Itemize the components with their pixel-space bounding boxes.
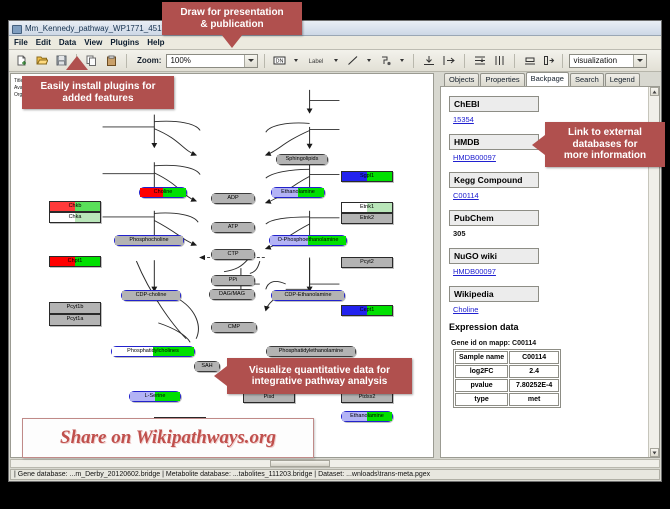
node-fill-segment [342, 172, 367, 181]
table-row: Sample nameC00114 [455, 351, 559, 364]
share-banner: Share on Wikipathways.org [22, 418, 314, 458]
db-external-link[interactable]: C00114 [453, 191, 640, 200]
callout-line: Draw for presentation [180, 7, 283, 19]
node-fill-segment [50, 315, 100, 325]
node-fill-segment [342, 393, 392, 402]
align-left-icon[interactable] [440, 52, 458, 69]
node-fill-segment [244, 393, 294, 402]
datanode-dropdown-icon[interactable] [291, 52, 301, 69]
canvas-horizontal-scrollbar[interactable] [10, 459, 660, 468]
scrollbar-thumb[interactable] [270, 460, 330, 467]
metabolite-node-ptd-ethanolam[interactable]: Phosphatidylethanolamine [266, 346, 356, 357]
callout-draw: Draw for presentation& publication [162, 2, 302, 35]
zoom-value: 100% [170, 56, 190, 65]
node-fill-segment [212, 323, 256, 332]
node-fill-segment [115, 236, 183, 245]
metabolite-node-ethanolamine-2[interactable]: Ethanolamine [341, 411, 393, 422]
toolbar-separator [264, 54, 265, 68]
callout-arrow-databases [532, 135, 545, 155]
gene-node-pcyt2[interactable]: Pcyt2 [341, 257, 393, 268]
tab-backpage[interactable]: Backpage [526, 72, 569, 86]
scroll-up-icon[interactable] [650, 87, 659, 96]
menu-item-edit[interactable]: Edit [36, 38, 51, 47]
zoom-label: Zoom: [137, 56, 161, 65]
gene-node-etnk1[interactable]: Etnk1 [341, 202, 393, 213]
callout-line: Link to external [568, 127, 642, 139]
callout-line: databases for [572, 139, 637, 151]
gene-node-pcyt1b[interactable]: Pcyt1b [49, 302, 101, 314]
node-fill-segment [153, 347, 194, 356]
node-fill-segment [50, 213, 75, 222]
callout-line: Visualize quantitative data for [249, 365, 390, 377]
zoom-combo[interactable]: 100% [166, 54, 258, 68]
gene-node-chka[interactable]: Chka [49, 212, 101, 223]
size-equal-icon[interactable] [521, 52, 538, 69]
node-fill-segment [342, 258, 392, 267]
metabolite-node-choline-top[interactable]: Choline [139, 187, 187, 198]
status-bar: | Gene database: ...m_Derby_20120602.bri… [10, 469, 660, 480]
table-cell: pvalue [455, 379, 508, 392]
align-top-icon[interactable] [420, 52, 437, 69]
node-fill-segment [270, 236, 308, 245]
node-fill-segment [75, 202, 100, 211]
metabolite-node-ppi[interactable]: PPi [211, 275, 255, 286]
callout-line: more information [564, 150, 646, 162]
new-icon[interactable] [13, 52, 30, 69]
node-fill-segment [342, 214, 392, 223]
main-toolbar: Zoom: 100% DN Label [9, 50, 661, 72]
tab-properties[interactable]: Properties [480, 73, 524, 86]
metabolite-node-phosphocholine[interactable]: Phosphocholine [114, 235, 184, 246]
gene-id-line: Gene id on mapp: C00114 [451, 340, 640, 347]
table-cell: type [455, 393, 508, 406]
table-cell: Sample name [455, 351, 508, 364]
node-fill-segment [298, 188, 324, 197]
menu-item-plugins[interactable]: Plugins [110, 38, 139, 47]
callout-line: & publication [200, 19, 263, 31]
db-section-header: PubChem [449, 210, 539, 226]
callout-line: integrative pathway analysis [252, 376, 388, 388]
metabolite-node-ethanolamine-1[interactable]: Ethanolamine [271, 187, 325, 198]
toolbar-separator [413, 54, 414, 68]
metabolite-node-cdp-choline[interactable]: CDP-choline [121, 290, 181, 301]
node-fill-segment [367, 203, 392, 212]
expression-table: Sample nameC00114log2FC2.4pvalue7.80252E… [453, 349, 561, 408]
pathway-canvas[interactable]: Title: Availa Organi [10, 73, 434, 458]
node-fill-segment [342, 306, 367, 315]
node-fill-segment [367, 412, 392, 421]
node-fill-segment [163, 188, 186, 197]
db-external-link[interactable]: Choline [453, 305, 640, 314]
gene-node-pcyt1a[interactable]: Pcyt1a [49, 314, 101, 326]
node-fill-segment [112, 347, 153, 356]
node-fill-segment [75, 213, 100, 222]
share-banner-text: Share on Wikipathways.org [60, 427, 276, 449]
gene-node-chkb[interactable]: Chkb [49, 201, 101, 212]
side-panel-tabs: ObjectsPropertiesBackpageSearchLegend [435, 73, 660, 86]
distribute-vertical-icon[interactable] [471, 52, 488, 69]
interaction-icon[interactable] [377, 52, 394, 69]
app-icon [12, 24, 21, 33]
gene-node-chpt1[interactable]: Chpt1 [49, 256, 101, 267]
label-icon[interactable]: Label [304, 52, 328, 69]
node-fill-segment [367, 306, 392, 315]
table-cell: C00114 [509, 351, 559, 364]
menu-item-view[interactable]: View [84, 38, 102, 47]
callout-arrow-draw [221, 34, 243, 48]
metabolite-node-atp[interactable]: ATP [211, 222, 255, 233]
metabolite-node-cdp-ethanolam[interactable]: CDP-Ethanolamine [271, 290, 345, 301]
node-fill-segment [267, 347, 355, 356]
metabolite-node-adp[interactable]: ADP [211, 193, 255, 204]
node-fill-segment [122, 291, 180, 300]
db-value: 305 [453, 229, 640, 238]
datanode-icon[interactable]: DN [271, 52, 288, 69]
node-fill-segment [308, 236, 346, 245]
callout-databases: Link to externaldatabases formore inform… [545, 122, 665, 167]
metabolite-node-o-phosphoetha[interactable]: O-Phosphoethanolamine [269, 235, 347, 246]
menu-item-file[interactable]: File [14, 38, 28, 47]
distribute-horizontal-icon[interactable] [491, 52, 508, 69]
toolbar-separator [562, 54, 563, 68]
node-fill-segment [272, 188, 298, 197]
chevron-down-icon[interactable] [633, 55, 646, 67]
metabolite-node-sphingolipids[interactable]: Sphingolipids [276, 154, 328, 165]
db-section-header: Kegg Compound [449, 172, 539, 188]
tab-objects[interactable]: Objects [444, 73, 479, 86]
node-fill-segment [140, 188, 163, 197]
node-fill-segment [50, 202, 75, 211]
metabolite-node-cmp[interactable]: CMP [211, 322, 257, 333]
screenshot-root: Mm_Kennedy_pathway_WP1771_45176.gpml Fil… [0, 0, 670, 509]
visualization-combo[interactable]: visualization [569, 54, 647, 68]
line-dropdown-icon[interactable] [364, 52, 374, 69]
node-fill-segment [212, 223, 254, 232]
table-row: log2FC2.4 [455, 365, 559, 378]
metabolite-node-dag-mag[interactable]: DAG/MAG [209, 289, 255, 300]
node-fill-segment [342, 412, 367, 421]
callout-line: Easily install plugins for [40, 81, 155, 93]
metabolite-node-l-serine-1[interactable]: L-Serine [129, 391, 181, 402]
node-fill-segment [210, 290, 254, 299]
db-section-header: Wikipedia [449, 286, 539, 302]
db-section-header: HMDB [449, 134, 539, 150]
visualization-value: visualization [573, 56, 617, 65]
table-row: pvalue7.80252E-4 [455, 379, 559, 392]
table-row: typemet [455, 393, 559, 406]
status-area: | Gene database: ...m_Derby_20120602.bri… [9, 459, 661, 481]
menu-bar: File Edit Data View Plugins Help [9, 36, 661, 50]
gene-node-selenoi[interactable]: Sgpl1 [341, 171, 393, 182]
table-cell: 2.4 [509, 365, 559, 378]
callout-arrow-visualize [214, 366, 227, 386]
stack-icon[interactable] [541, 52, 556, 69]
label-dropdown-icon[interactable] [331, 52, 341, 69]
metabolite-node-ctp[interactable]: CTP [211, 249, 255, 260]
table-cell: met [509, 393, 559, 406]
callout-arrow-plugins [66, 56, 88, 70]
open-icon[interactable] [33, 52, 50, 69]
db-section-header: ChEBI [449, 96, 539, 112]
toolbar-separator [514, 54, 515, 68]
svg-text:DN: DN [276, 59, 284, 65]
tab-legend[interactable]: Legend [605, 73, 640, 86]
callout-line: added features [62, 93, 133, 105]
table-cell: 7.80252E-4 [509, 379, 559, 392]
toolbar-separator [464, 54, 465, 68]
chevron-down-icon[interactable] [244, 55, 257, 67]
node-fill-segment [50, 257, 75, 266]
window-title-bar: Mm_Kennedy_pathway_WP1771_45176.gpml [9, 21, 661, 36]
node-fill-segment [130, 392, 155, 401]
scroll-down-icon[interactable] [650, 448, 659, 457]
node-fill-segment [342, 203, 367, 212]
node-fill-segment [367, 172, 392, 181]
node-fill-segment [212, 194, 254, 203]
node-fill-segment [75, 257, 100, 266]
paste-icon[interactable] [103, 52, 120, 69]
interaction-dropdown-icon[interactable] [397, 52, 407, 69]
expression-data-title: Expression data [449, 322, 640, 332]
node-fill-segment [212, 250, 254, 259]
line-icon[interactable] [344, 52, 361, 69]
node-fill-segment [277, 155, 327, 164]
node-fill-segment [212, 276, 254, 285]
svg-text:Label: Label [309, 59, 324, 65]
menu-item-data[interactable]: Data [59, 38, 76, 47]
table-cell: log2FC [455, 365, 508, 378]
tab-search[interactable]: Search [570, 73, 604, 86]
node-fill-segment [155, 392, 180, 401]
metabolite-node-ptd-cholines[interactable]: Phosphatidylcholines [111, 346, 195, 357]
node-fill-segment [50, 303, 100, 313]
db-external-link[interactable]: HMDB00097 [453, 267, 640, 276]
menu-item-help[interactable]: Help [147, 38, 164, 47]
gene-node-cept1[interactable]: Cept1 [341, 305, 393, 316]
node-fill-segment [272, 291, 344, 300]
gene-node-etnk2[interactable]: Etnk2 [341, 213, 393, 224]
db-section-header: NuGO wiki [449, 248, 539, 264]
callout-plugins: Easily install plugins foradded features [22, 76, 174, 109]
callout-visualize: Visualize quantitative data forintegrati… [227, 358, 412, 394]
toolbar-separator [126, 54, 127, 68]
